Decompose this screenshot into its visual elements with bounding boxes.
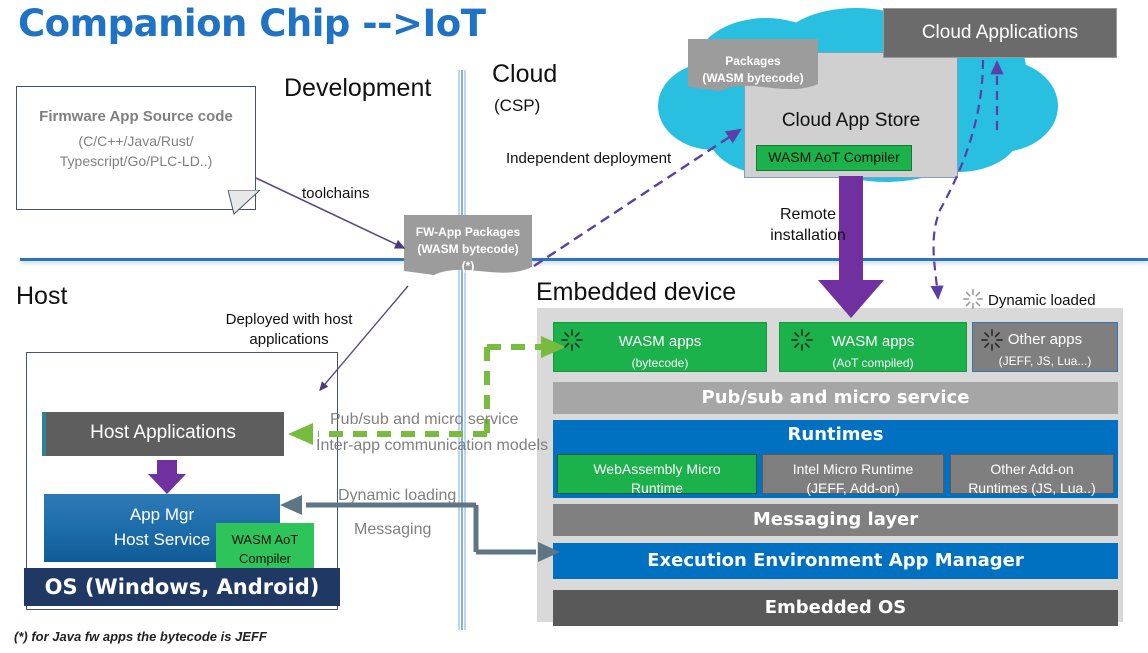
firmware-source-subtitle: (C/C++/Java/Rust/Typescript/Go/PLC-LD..)	[16, 131, 256, 171]
firmware-source-title: Firmware App Source code	[16, 108, 256, 125]
label-pubsub-micro-service: Pub/sub and micro service	[330, 411, 519, 429]
section-heading-host: Host	[16, 282, 67, 311]
loading-spinner-icon-legend	[962, 288, 984, 310]
label-inter-app-communication: Inter-app communication models	[316, 437, 548, 455]
section-heading-development: Development	[284, 74, 431, 103]
cloud-app-store-title: Cloud App Store	[744, 110, 958, 132]
label-toolchains: toolchains	[302, 185, 370, 202]
remote-installation-arrow	[818, 176, 884, 318]
vertical-divider	[458, 70, 466, 630]
horizontal-divider	[20, 258, 1148, 261]
label-messaging: Messaging	[354, 521, 431, 539]
embedded-runtime-label-1: Intel Micro Runtime(JEFF, Add-on)	[762, 460, 944, 498]
label-deployed-with-host: Deployed with hostapplications	[214, 310, 364, 350]
label-dynamic-loaded: Dynamic loaded	[988, 292, 1096, 309]
slide-canvas: Companion Chip -->IoT Development Cloud …	[0, 0, 1148, 653]
embedded-runtime-label-2: Other Add-onRuntimes (JS, Lua..)	[950, 460, 1114, 498]
page-title: Companion Chip -->IoT	[18, 2, 658, 48]
section-heading-embedded: Embedded device	[536, 278, 736, 307]
embedded-os-label: Embedded OS	[553, 597, 1118, 618]
host-applications-label: Host Applications	[42, 422, 284, 444]
callout-tail-icon	[228, 190, 262, 216]
callout-packages-cloud-label: Packages(WASM bytecode)	[688, 53, 818, 87]
cloud-aot-compiler-label: WASM AoT Compiler	[756, 149, 912, 165]
label-dynamic-loading: Dynamic loading	[338, 487, 456, 505]
embedded-exec-env-label: Execution Environment App Manager	[553, 550, 1118, 571]
cloud-applications-label: Cloud Applications	[883, 22, 1117, 44]
section-heading-cloud-sub: (CSP)	[494, 96, 540, 116]
loading-spinner-icon-2	[980, 328, 1004, 352]
footnote: (*) for Java fw apps the bytecode is JEF…	[14, 629, 267, 644]
section-heading-cloud: Cloud	[492, 60, 557, 89]
embedded-pubsub-label: Pub/sub and micro service	[553, 387, 1118, 408]
loading-spinner-icon-0	[560, 328, 584, 352]
embedded-app-label-0: WASM apps(bytecode)	[553, 331, 767, 374]
loading-spinner-icon-1	[790, 328, 814, 352]
embedded-runtime-label-0: WebAssembly MicroRuntime	[557, 460, 757, 498]
embedded-runtimes-title: Runtimes	[553, 424, 1118, 445]
label-remote-installation: Remoteinstallation	[770, 204, 846, 246]
embedded-messaging-label: Messaging layer	[553, 509, 1118, 530]
host-wasm-aot-compiler-label: WASM AoTCompiler	[216, 530, 314, 568]
host-os-label: OS (Windows, Android)	[24, 575, 340, 599]
callout-fw-app-packages-label: FW-App Packages(WASM bytecode)(*)	[404, 224, 532, 275]
label-independent-deployment: Independent deployment	[506, 150, 671, 167]
